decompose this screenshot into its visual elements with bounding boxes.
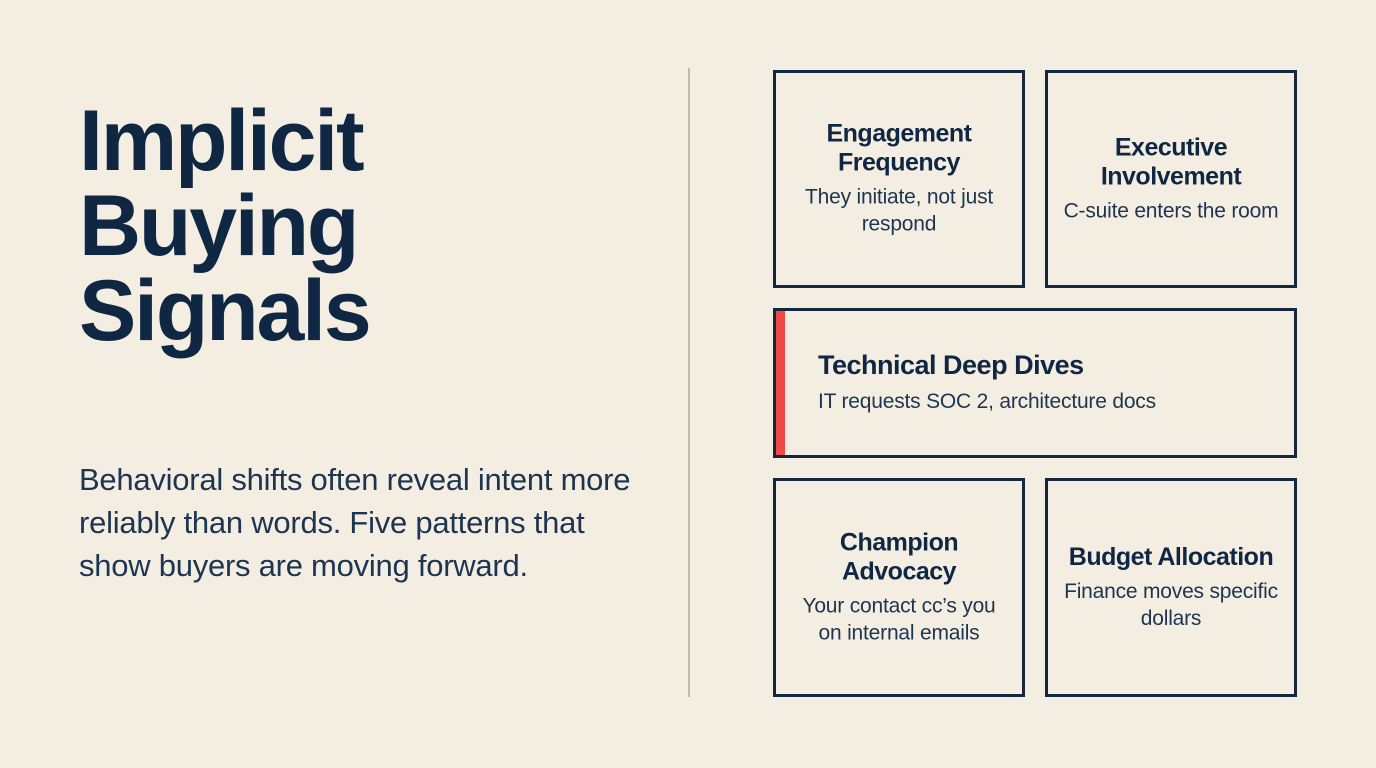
signal-card-technical-deep-dives[interactable]: Technical Deep Dives IT requests SOC 2, …	[773, 308, 1297, 458]
card-content: Budget Allocation Finance moves specific…	[1048, 543, 1294, 633]
card-title: Technical Deep Dives	[818, 350, 1294, 381]
card-content: Engagement Frequency They initiate, not …	[776, 120, 1022, 239]
signal-card-champion-advocacy[interactable]: Champion Advocacy Your contact cc’s you …	[773, 478, 1025, 697]
card-description: C-suite enters the room	[1062, 197, 1280, 224]
signal-cards-grid: Engagement Frequency They initiate, not …	[773, 70, 1297, 697]
card-description: They initiate, not just respond	[790, 184, 1008, 239]
card-title: Champion Advocacy	[790, 528, 1008, 586]
card-content: Champion Advocacy Your contact cc’s you …	[776, 528, 1022, 647]
card-title: Executive Involvement	[1062, 133, 1280, 191]
card-title: Engagement Frequency	[790, 120, 1008, 178]
card-content: Technical Deep Dives IT requests SOC 2, …	[776, 350, 1294, 416]
page-title: Implicit Buying Signals	[79, 99, 659, 354]
card-title: Budget Allocation	[1062, 543, 1280, 572]
signal-card-budget-allocation[interactable]: Budget Allocation Finance moves specific…	[1045, 478, 1297, 697]
card-description: IT requests SOC 2, architecture docs	[818, 389, 1294, 416]
left-pane: Implicit Buying Signals Behavioral shift…	[79, 0, 669, 768]
card-content: Executive Involvement C-suite enters the…	[1048, 133, 1294, 224]
card-description: Finance moves specific dollars	[1062, 578, 1280, 633]
signal-card-engagement-frequency[interactable]: Engagement Frequency They initiate, not …	[773, 70, 1025, 288]
vertical-divider	[688, 68, 690, 697]
slide-canvas: Implicit Buying Signals Behavioral shift…	[0, 0, 1376, 768]
page-subtitle: Behavioral shifts often reveal intent mo…	[79, 459, 664, 587]
card-description: Your contact cc’s you on internal emails	[790, 592, 1008, 647]
signal-card-executive-involvement[interactable]: Executive Involvement C-suite enters the…	[1045, 70, 1297, 288]
